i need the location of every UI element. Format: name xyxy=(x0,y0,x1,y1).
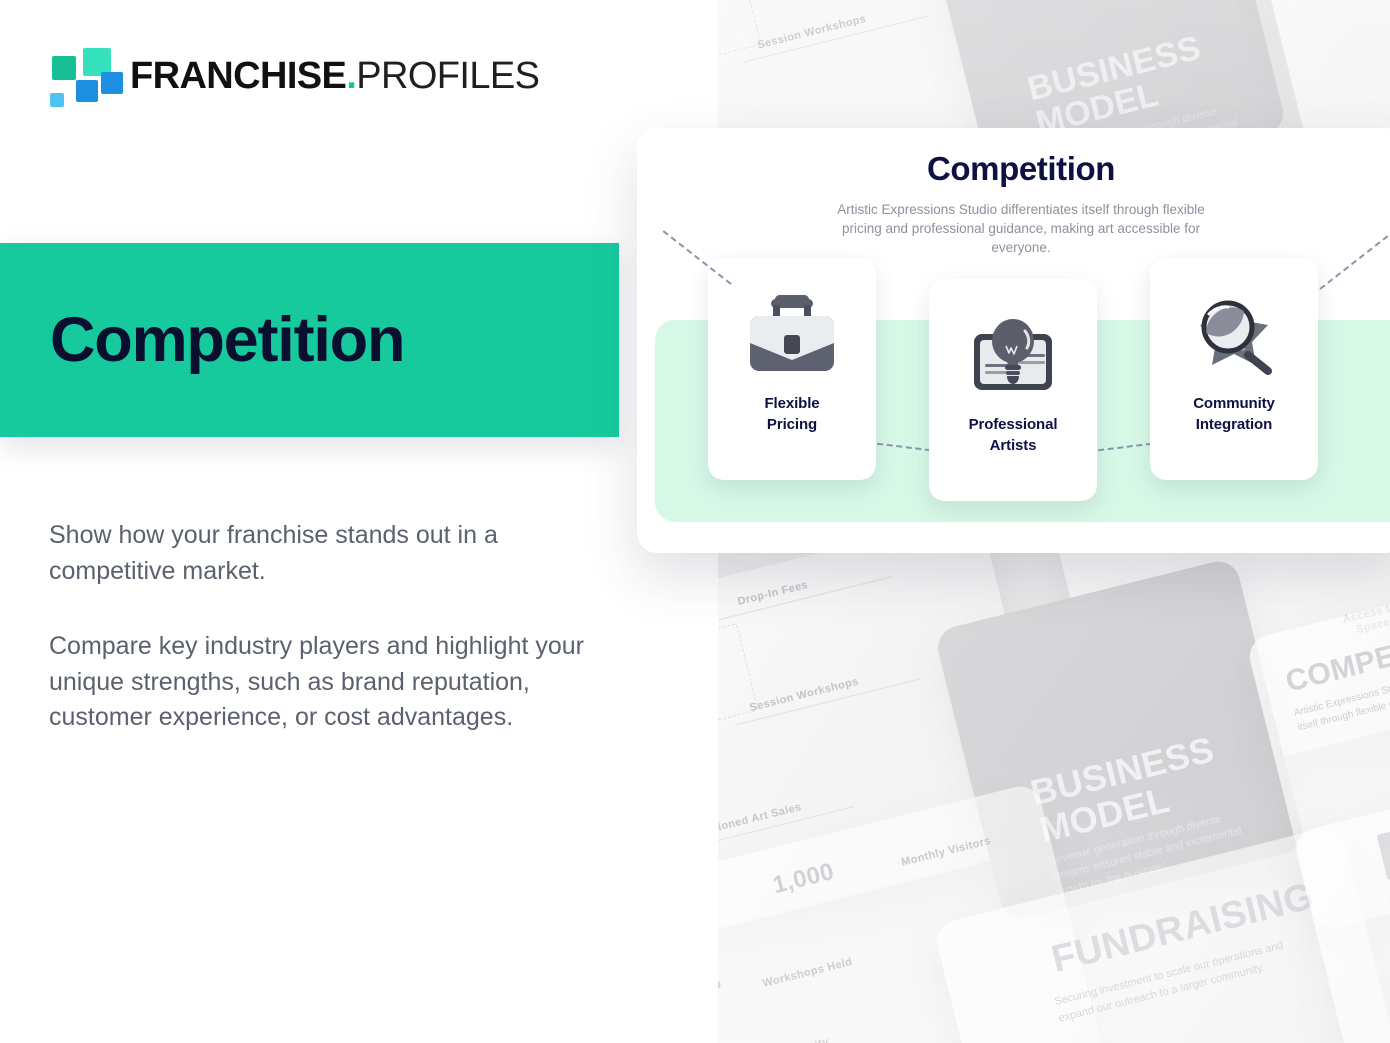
feature-label-line2: Artists xyxy=(990,437,1037,454)
logo-square-lightblue xyxy=(50,93,64,107)
description-paragraph-1: Show how your franchise stands out in a … xyxy=(49,518,619,589)
connector-card1-card2 xyxy=(877,443,931,452)
watermark-label: Session Workshops xyxy=(756,13,867,52)
feature-card-community-integration[interactable]: Community Integration xyxy=(1150,258,1318,480)
slide-stage: Drop-In Fees Session Workshops Commissio… xyxy=(0,0,1390,1043)
logo-square-blue-mid xyxy=(76,80,98,102)
logo-wordmark: FRANCHISE.PROFILES xyxy=(130,57,539,95)
logo-mark-icon xyxy=(48,48,108,104)
feature-card-row: Flexible Pricing xyxy=(637,128,1390,553)
feature-card-professional-artists[interactable]: Professional Artists xyxy=(929,279,1097,501)
feature-card-label: Community Integration xyxy=(1193,394,1275,435)
logo-square-teal xyxy=(52,56,76,80)
feature-label-line2: Pricing xyxy=(767,416,817,433)
watermark-stat-label: Workshops Held xyxy=(761,956,854,991)
description-paragraph-2: Compare key industry players and highlig… xyxy=(49,629,619,736)
page-title: Competition xyxy=(50,309,404,372)
section-title-banner: Competition xyxy=(0,243,619,437)
feature-label-line1: Community xyxy=(1193,395,1275,412)
lightbulb-board-icon xyxy=(961,305,1065,409)
watermark-label: Drop-In Fees xyxy=(736,579,809,609)
watermark-stat-value: 75 xyxy=(717,972,724,999)
feature-card-flexible-pricing[interactable]: Flexible Pricing xyxy=(708,258,876,480)
feature-label-line1: Professional xyxy=(969,416,1058,433)
feature-label-line1: Flexible xyxy=(764,395,819,412)
watermark-stat-label: Monthly Visitors xyxy=(900,835,992,869)
watermark-stat-label: Community Partnerships xyxy=(765,1031,855,1043)
left-content-panel: FRANCHISE.PROFILES Competition Show how … xyxy=(0,0,718,1043)
watermark-label: Commissioned Art Sales xyxy=(717,801,803,847)
briefcase-icon xyxy=(740,284,844,388)
logo-square-blue-right xyxy=(101,72,123,94)
logo-dot: . xyxy=(346,55,356,97)
description-copy: Show how your franchise stands out in a … xyxy=(49,518,619,736)
feature-card-label: Flexible Pricing xyxy=(764,394,819,435)
star-magnifier-icon xyxy=(1182,284,1286,388)
feature-card-label: Professional Artists xyxy=(969,415,1058,456)
feature-label-line2: Integration xyxy=(1196,416,1272,433)
watermark-label: Session Workshops xyxy=(748,676,859,715)
logo-word-profiles: PROFILES xyxy=(356,55,539,97)
watermark-stat-value: 1,000 xyxy=(770,858,837,900)
connector-card2-card3 xyxy=(1098,443,1152,452)
logo-word-franchise: FRANCHISE xyxy=(130,55,346,97)
brand-logo[interactable]: FRANCHISE.PROFILES xyxy=(48,45,539,107)
slide-preview-card[interactable]: Competition Artistic Expressions Studio … xyxy=(637,128,1390,553)
